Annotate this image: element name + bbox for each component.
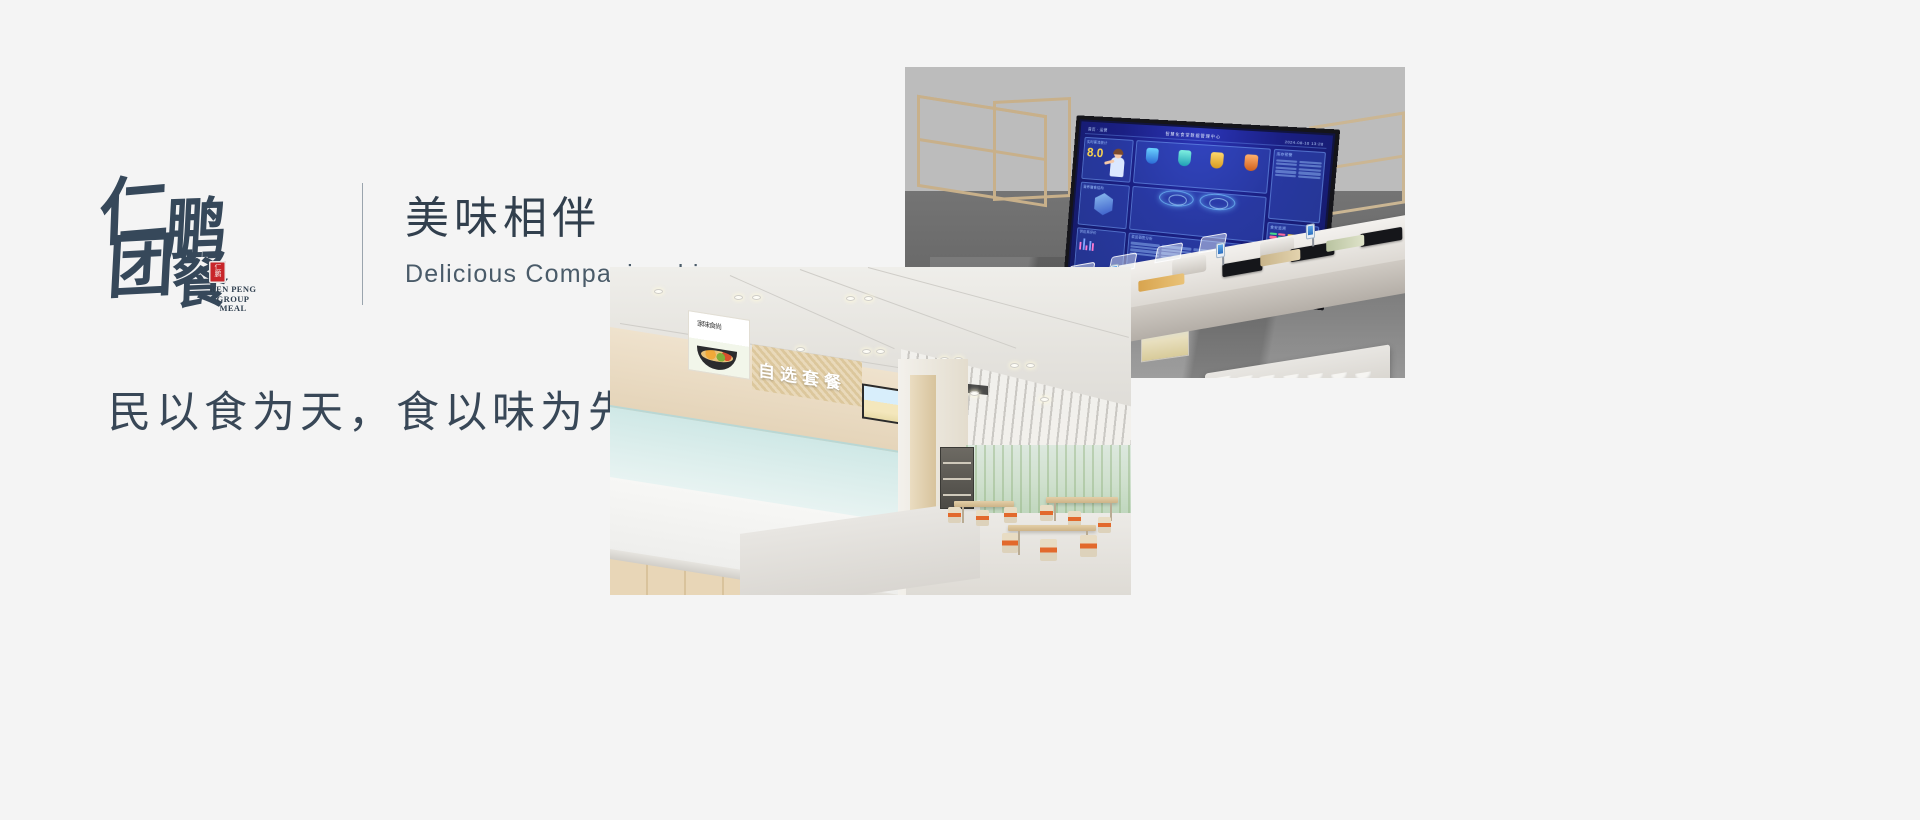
table-leg-5 [1018, 531, 1020, 555]
mascot-illustration [1107, 149, 1130, 179]
dining-table-3 [1008, 525, 1096, 531]
dashboard-header-left: 首页 · 运营 [1088, 127, 1108, 134]
dining-chair-4 [1040, 505, 1053, 521]
downlight-13 [1026, 363, 1035, 368]
dashboard-list-panel: 库存预警 [1268, 149, 1326, 224]
downlight-2 [734, 295, 743, 300]
icon-card-soup [1236, 149, 1267, 151]
table-leg-1 [962, 507, 964, 523]
display-shelf [940, 447, 974, 509]
poster-brand-text: 家味食尚 [697, 319, 721, 333]
dish-poster: 家味食尚 [688, 310, 750, 380]
radar-ring-left [1159, 189, 1195, 208]
dashboard-header-right: 2024-08-16 13:28 [1285, 139, 1324, 147]
dashboard-header-title: 智慧化食堂数据管理中心 [1165, 131, 1221, 140]
radar-ring-right [1199, 193, 1236, 212]
red-seal-icon: 仁鹏 [209, 261, 226, 283]
bowl-5 [1307, 373, 1323, 378]
table-leg-3 [1054, 503, 1056, 521]
downlight-15 [970, 391, 979, 396]
downlight-16 [1040, 397, 1049, 402]
dining-chair-9 [1080, 535, 1097, 557]
dining-chair-3 [1004, 507, 1017, 523]
icon-card-veggie [1203, 147, 1233, 149]
bowl-2 [1237, 375, 1253, 378]
dining-chair-8 [1040, 539, 1057, 561]
downlight-12 [1010, 363, 1019, 368]
mini-bar-chart [1076, 234, 1124, 256]
bowl-1 [1215, 376, 1231, 378]
logo-char-tuan: 团 [106, 231, 174, 304]
bowl-4 [1283, 374, 1299, 378]
downlight-5 [864, 296, 873, 301]
bowl-6 [1331, 372, 1347, 378]
downlight-1 [654, 289, 663, 294]
vertical-divider [362, 183, 363, 305]
dining-chair-6 [1098, 517, 1111, 533]
wood-pergola-frame-mid [993, 97, 1071, 201]
downlight-4 [846, 296, 855, 301]
kiosk-stem-4 [1222, 256, 1224, 265]
bowl-7 [1355, 371, 1371, 378]
icon-card-meat [1171, 145, 1200, 147]
kiosk-stem-5 [1312, 237, 1314, 246]
dashboard-kpi-panel: 实时客流统计 8.0 [1081, 137, 1134, 183]
price-kiosk-5 [1306, 223, 1315, 240]
dashboard-icon-cards-panel [1133, 140, 1271, 194]
logo-english-line-3: MEAL [202, 304, 264, 314]
dining-chair-1 [948, 507, 961, 523]
logo-english-text: REN PENG GROUP MEAL [202, 285, 264, 314]
bowl-3 [1259, 375, 1275, 378]
company-logo: 仁 鹏 团 餐 仁鹏 REN PENG GROUP MEAL [105, 175, 260, 310]
dining-table-2 [1046, 497, 1118, 503]
dashboard-hex-panel: 营养膳食结构 [1078, 182, 1130, 229]
banner-canvas: 仁 鹏 团 餐 仁鹏 REN PENG GROUP MEAL 美味相伴 Deli… [0, 0, 1920, 820]
icon-card-staple [1139, 143, 1168, 145]
dining-chair-7 [1002, 533, 1018, 553]
price-kiosk-4 [1216, 242, 1225, 259]
page-title: 美味相伴 [405, 193, 735, 245]
cafeteria-interior-photo: 家味食尚 自选套餐 [610, 267, 1131, 595]
downlight-3 [752, 295, 761, 300]
dining-chair-2 [976, 510, 989, 526]
hexagon-chart-icon [1094, 192, 1114, 216]
inventory-list [1272, 157, 1324, 182]
tagline: 民以食为天，食以味为先 [108, 385, 636, 441]
seal-text: 仁鹏 [212, 264, 223, 280]
dashboard-panel-title-3: 营养膳食结构 [1081, 183, 1129, 193]
